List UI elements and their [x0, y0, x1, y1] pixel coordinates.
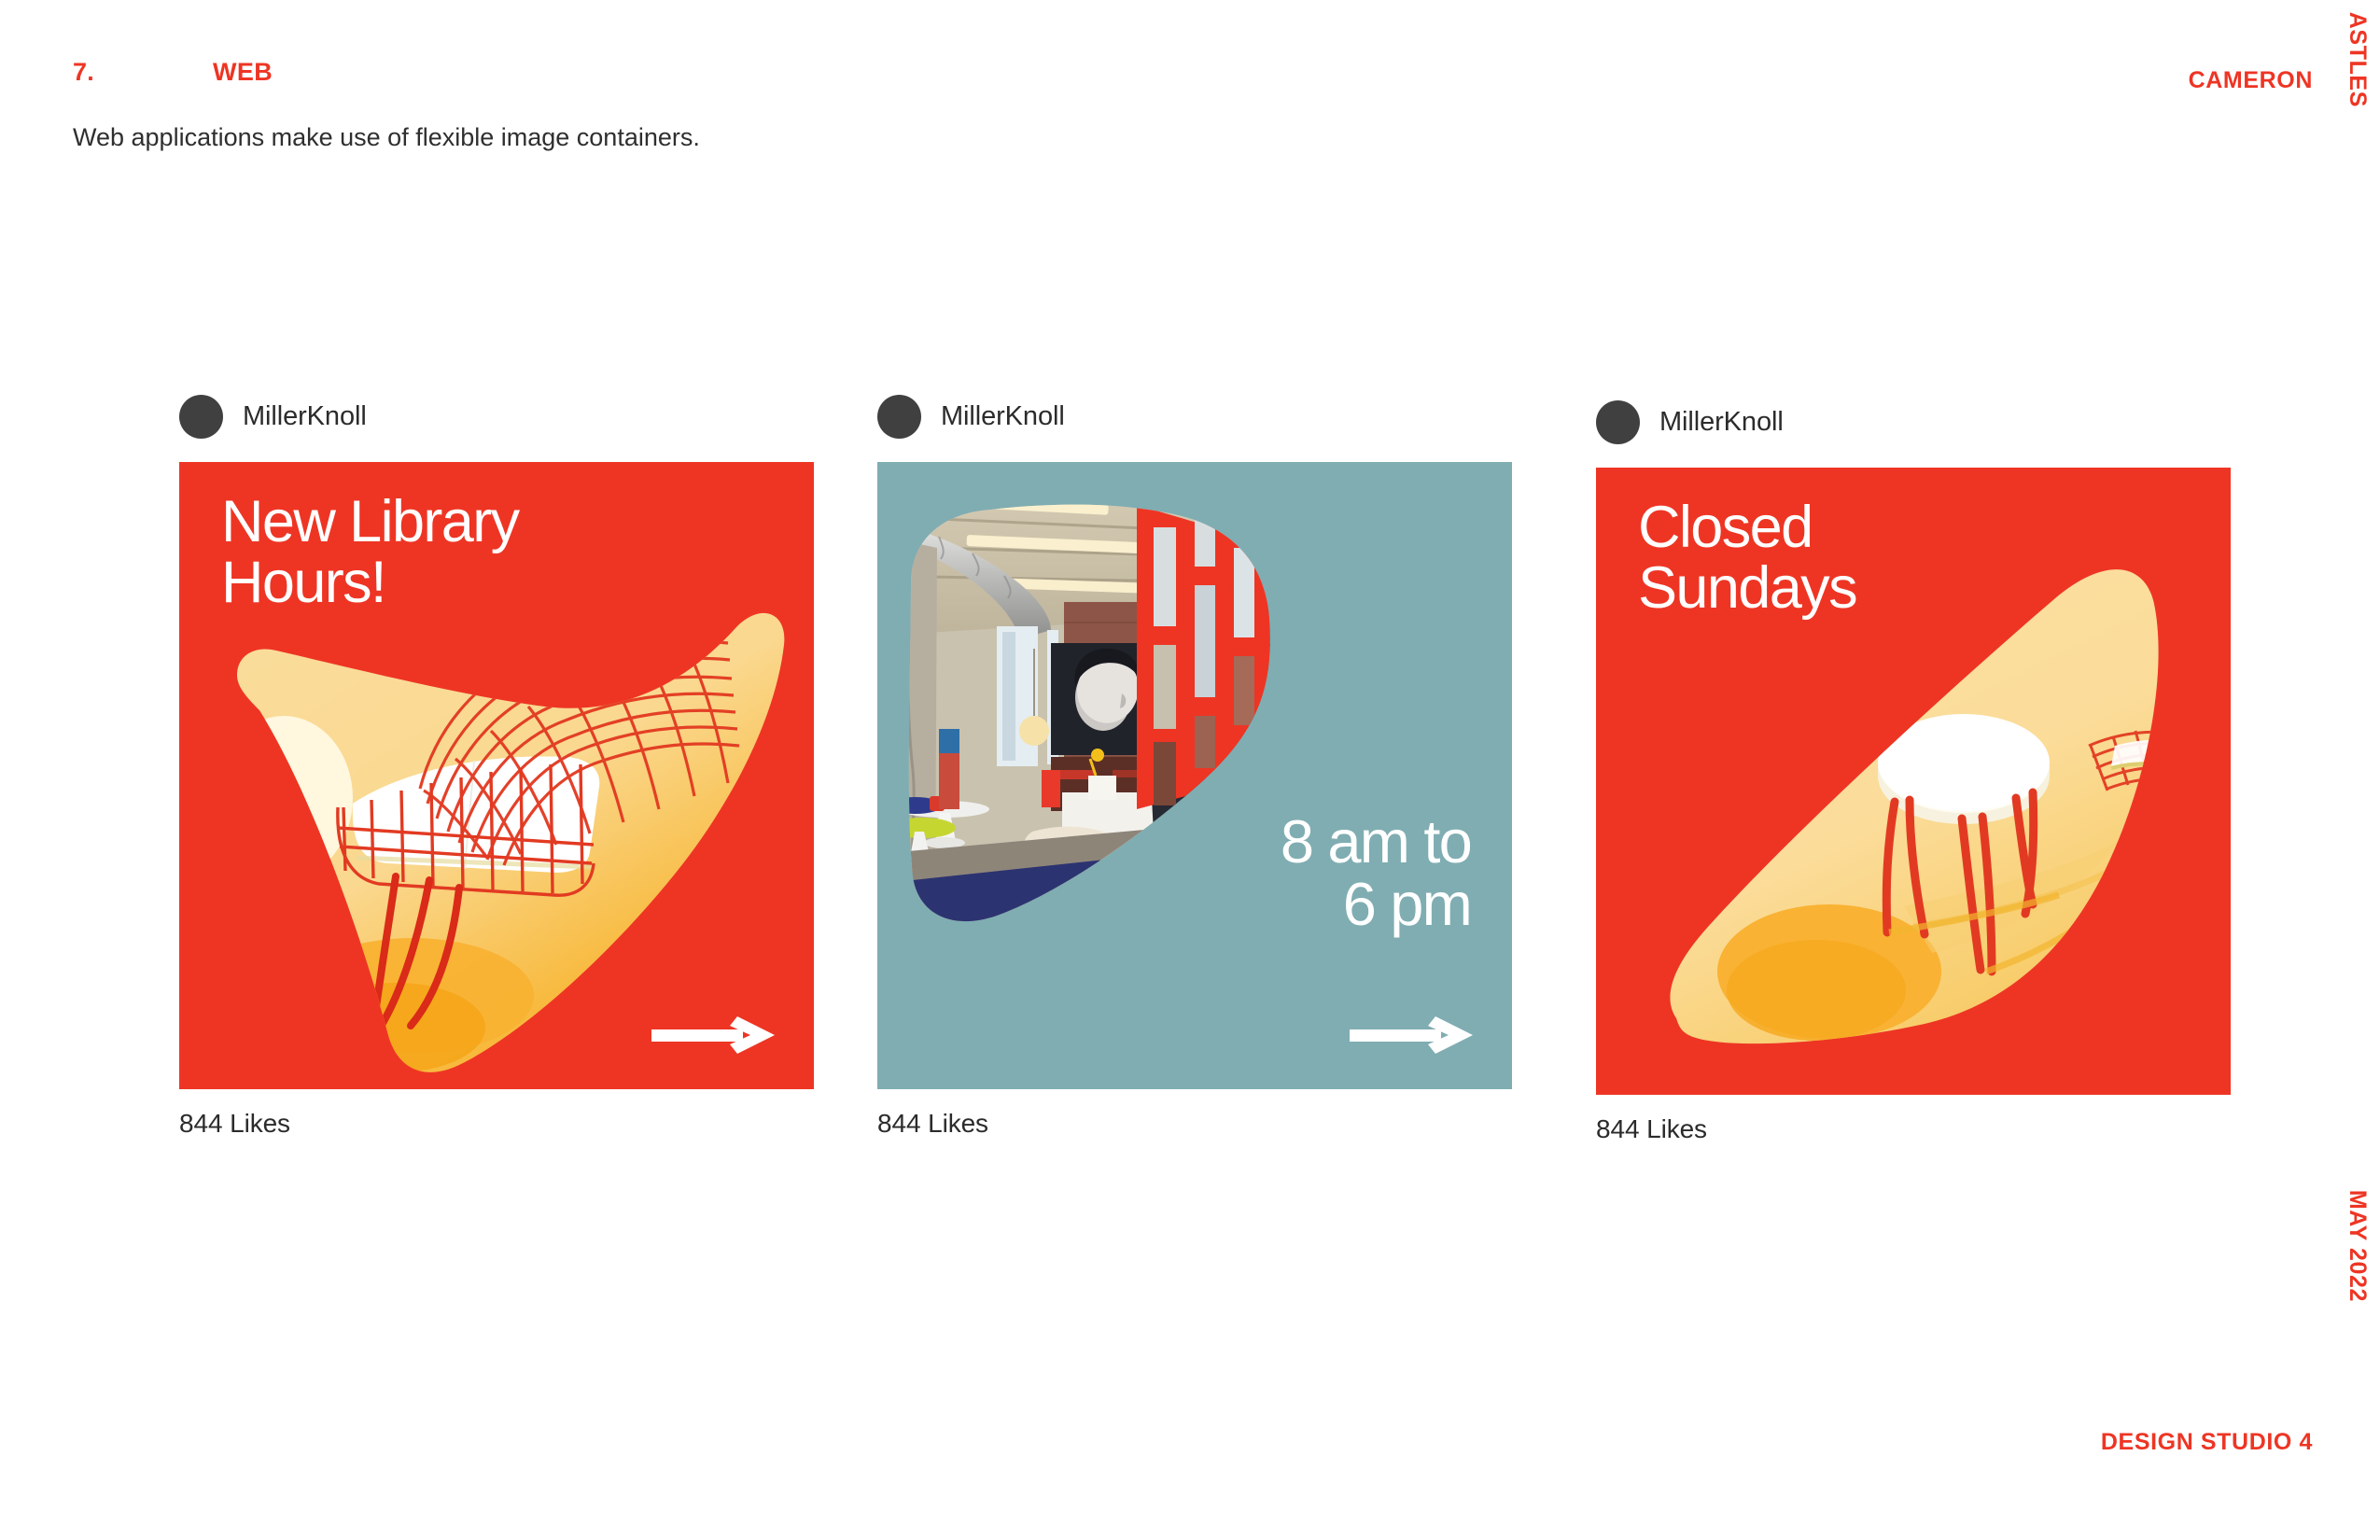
avatar[interactable] [179, 395, 223, 439]
post-image-container: 8 am to 6 pm [877, 462, 1512, 1089]
post-header: MillerKnoll [179, 390, 814, 442]
post-headline: Closed Sundays [1638, 497, 1856, 619]
author-last-name: ASTLES [2344, 12, 2371, 107]
account-name: MillerKnoll [941, 401, 1065, 432]
studio-mark: DESIGN STUDIO 4 [2101, 1429, 2313, 1456]
account-name: MillerKnoll [1659, 407, 1784, 438]
post-headline: New Library Hours! [221, 492, 519, 613]
post-image-container: New Library Hours! [179, 462, 814, 1089]
post-header: MillerKnoll [1596, 396, 2231, 448]
office-interior-photo [877, 462, 1512, 1089]
social-post-card[interactable]: MillerKnoll [877, 390, 1512, 1139]
likes-count: 844 Likes [877, 1109, 1512, 1139]
author-first-name: CAMERON [2189, 67, 2313, 94]
section-label: WEB [213, 58, 273, 87]
next-arrow-icon[interactable] [1350, 1013, 1473, 1057]
slide-number: 7. [73, 58, 94, 87]
post-header: MillerKnoll [877, 390, 1512, 442]
post-image-container: Closed Sundays [1596, 468, 2231, 1095]
social-post-card[interactable]: MillerKnoll [1596, 396, 2231, 1144]
date-mark: MAY 2022 [2344, 1190, 2371, 1302]
social-post-card[interactable]: MillerKnoll [179, 390, 814, 1139]
next-arrow-icon[interactable] [651, 1013, 775, 1057]
post-headline: 8 am to 6 pm [1281, 811, 1471, 936]
likes-count: 844 Likes [179, 1109, 814, 1139]
account-name: MillerKnoll [243, 401, 367, 432]
avatar[interactable] [1596, 400, 1640, 444]
likes-count: 844 Likes [1596, 1114, 2231, 1144]
avatar[interactable] [877, 395, 921, 439]
section-description: Web applications make use of flexible im… [73, 121, 745, 154]
